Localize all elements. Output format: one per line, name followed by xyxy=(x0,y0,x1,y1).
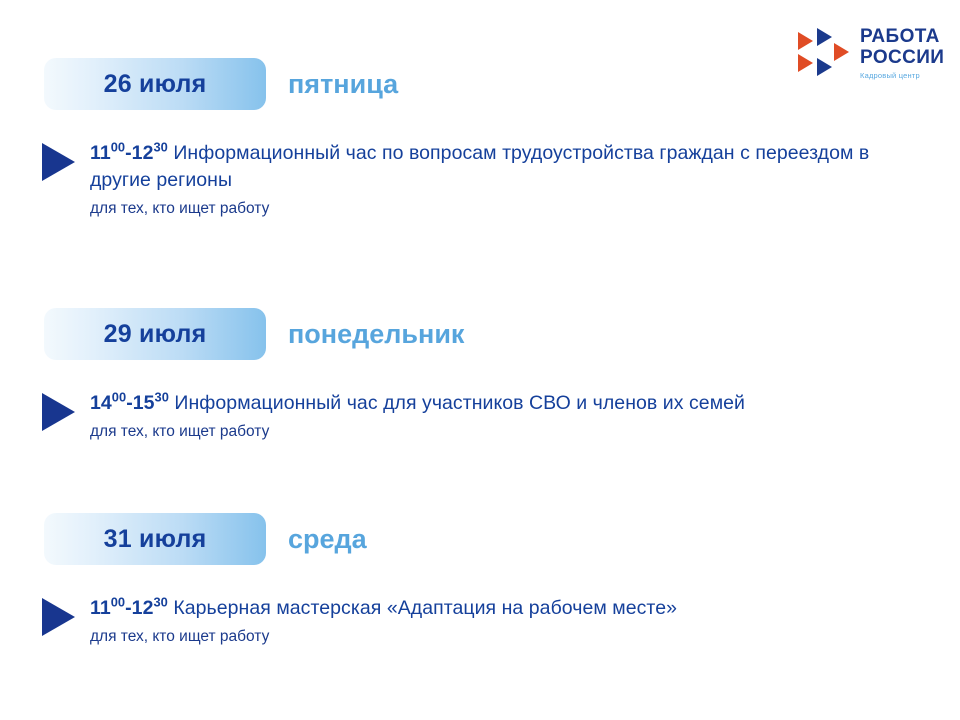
date-badge: 29 июля xyxy=(44,308,266,360)
day-block: 26 июля пятница 1100-1230 Информационный… xyxy=(0,58,960,220)
day-header: 26 июля пятница xyxy=(0,58,960,110)
weekday-label: среда xyxy=(288,524,367,555)
date-badge: 31 июля xyxy=(44,513,266,565)
date-badge: 26 июля xyxy=(44,58,266,110)
schedule-list: 26 июля пятница 1100-1230 Информационный… xyxy=(0,58,960,648)
play-triangle-icon xyxy=(42,143,75,181)
event-item: 1100-1230 Информационный час по вопросам… xyxy=(0,140,960,220)
day-header: 29 июля понедельник xyxy=(0,308,960,360)
brand-name-line-1: РАБОТА xyxy=(860,26,940,47)
event-audience: для тех, кто ищет работу xyxy=(90,421,745,443)
event-item: 1400-1530 Информационный час для участни… xyxy=(0,390,960,443)
event-body: 1100-1230 Карьерная мастерская «Адаптаци… xyxy=(90,595,677,648)
day-block: 29 июля понедельник 1400-1530 Информацио… xyxy=(0,308,960,443)
event-body: 1400-1530 Информационный час для участни… xyxy=(90,390,745,443)
event-time-end-minutes: 30 xyxy=(155,390,169,405)
event-time-start-minutes: 00 xyxy=(112,390,126,405)
play-triangle-icon xyxy=(42,393,75,431)
event-time: 1100-1230 xyxy=(90,597,168,619)
event-audience: для тех, кто ищет работу xyxy=(90,198,880,220)
event-time-end: 15 xyxy=(133,392,155,414)
event-audience: для тех, кто ищет работу xyxy=(90,626,677,648)
event-title-text: Информационный час для участников СВО и … xyxy=(169,392,745,414)
event-time-start: 14 xyxy=(90,392,112,414)
event-time-start: 11 xyxy=(90,142,111,164)
event-time-start: 11 xyxy=(90,597,111,619)
event-title-text: Информационный час по вопросам трудоустр… xyxy=(90,142,869,191)
event-title: 1100-1230 Карьерная мастерская «Адаптаци… xyxy=(90,595,677,622)
event-item: 1100-1230 Карьерная мастерская «Адаптаци… xyxy=(0,595,960,648)
event-time-end-minutes: 30 xyxy=(153,140,167,155)
event-body: 1100-1230 Информационный час по вопросам… xyxy=(90,140,880,220)
event-title: 1100-1230 Информационный час по вопросам… xyxy=(90,140,880,194)
event-title: 1400-1530 Информационный час для участни… xyxy=(90,390,745,417)
event-time: 1100-1230 xyxy=(90,142,168,164)
date-label: 31 июля xyxy=(104,525,207,554)
day-header: 31 июля среда xyxy=(0,513,960,565)
play-triangle-icon xyxy=(42,598,75,636)
day-block: 31 июля среда 1100-1230 Карьерная мастер… xyxy=(0,513,960,648)
weekday-label: понедельник xyxy=(288,319,464,350)
event-time-end: 12 xyxy=(132,597,154,619)
date-label: 29 июля xyxy=(104,320,207,349)
spacer xyxy=(0,443,960,513)
event-time-end-minutes: 30 xyxy=(153,595,167,610)
event-time: 1400-1530 xyxy=(90,392,169,414)
event-time-start-minutes: 00 xyxy=(111,595,125,610)
event-title-text: Карьерная мастерская «Адаптация на рабоч… xyxy=(168,597,677,619)
event-time-start-minutes: 00 xyxy=(111,140,125,155)
event-time-end: 12 xyxy=(132,142,154,164)
date-label: 26 июля xyxy=(104,70,207,99)
spacer xyxy=(0,220,960,308)
weekday-label: пятница xyxy=(288,69,398,100)
